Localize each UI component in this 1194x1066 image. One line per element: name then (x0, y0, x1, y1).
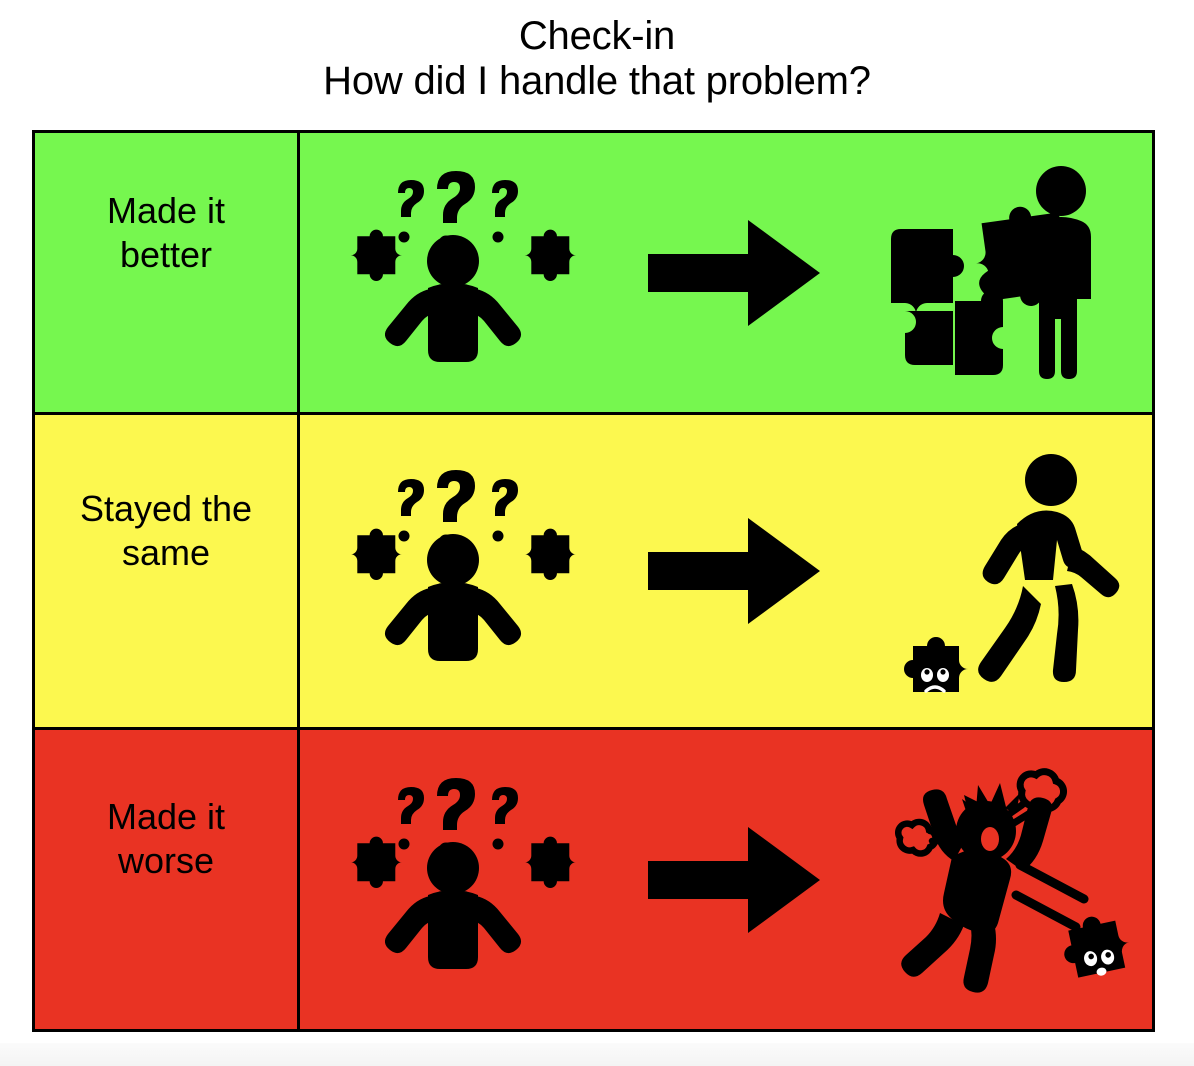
page-title: Check-in How did I handle that problem? (0, 14, 1194, 104)
row-content-worse (300, 730, 1152, 1029)
right-arrow-icon (610, 133, 860, 412)
row-label-same-line2: same (35, 531, 297, 575)
title-line-1: Check-in (0, 14, 1194, 59)
angry-shouting-person-with-scared-puzzle-icon (865, 730, 1165, 1029)
row-label-better-line1: Made it (35, 189, 297, 233)
row-label-worse-line1: Made it (35, 795, 297, 839)
row-label-worse-line2: worse (35, 839, 297, 883)
person-assembling-puzzle-icon (848, 133, 1148, 412)
row-content-better (300, 133, 1152, 412)
row-label-same-line1: Stayed the (35, 487, 297, 531)
confused-shrugging-person-icon (310, 133, 610, 412)
confused-shrugging-person-icon (310, 730, 610, 1029)
matrix-row-worse[interactable]: Made it worse (35, 730, 1152, 1029)
title-line-2: How did I handle that problem? (0, 59, 1194, 104)
right-arrow-icon (610, 415, 860, 727)
row-content-same (300, 415, 1152, 727)
checkin-matrix: Made it better (32, 130, 1155, 1032)
row-label-better-line2: better (35, 233, 297, 277)
matrix-row-same[interactable]: Stayed the same (35, 415, 1152, 730)
page-bottom-edge (0, 1043, 1194, 1066)
person-walking-away-from-sad-puzzle-icon (860, 415, 1160, 727)
row-label-better: Made it better (35, 133, 300, 412)
row-label-same: Stayed the same (35, 415, 300, 727)
right-arrow-icon (610, 730, 860, 1029)
matrix-row-better[interactable]: Made it better (35, 133, 1152, 415)
confused-shrugging-person-icon (310, 415, 610, 727)
row-label-worse: Made it worse (35, 730, 300, 1029)
